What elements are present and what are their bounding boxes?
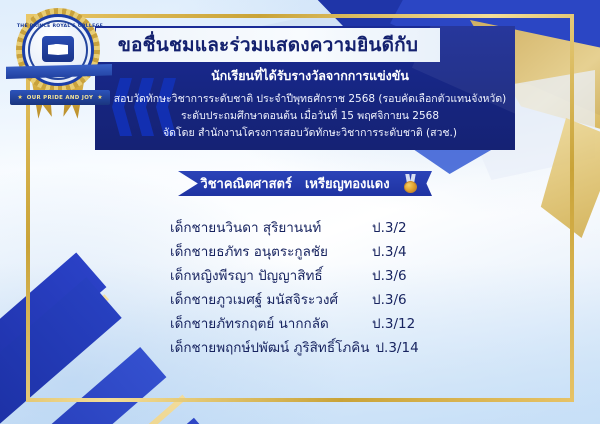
- student-class: ป.3/12: [372, 312, 415, 334]
- award-banner-content: วิชาคณิตศาสตร์ เหรียญทองแดง: [186, 173, 417, 194]
- student-row: เด็กหญิงพีรญา ปัญญาสิทธิ์ ป.3/6: [170, 264, 500, 288]
- congratulations-poster: ขอชื่นชมและร่วมแสดงความยินดีกับ นักเรียน…: [0, 0, 600, 424]
- student-class: ป.3/6: [372, 288, 407, 310]
- student-class: ป.3/4: [372, 240, 407, 262]
- student-name: เด็กชายพฤกษ์ปพัฒน์ ภูริสิทธิ์โภคิน: [170, 336, 375, 358]
- star-icon-right: ★: [97, 95, 102, 101]
- student-name: เด็กชายนวินดา สุริยานนท์: [170, 216, 372, 238]
- award-medal-label: เหรียญทองแดง: [305, 173, 390, 194]
- subtitle-line-1: นักเรียนที่ได้รับรางวัลจากการแข่งขัน: [95, 66, 525, 86]
- student-class: ป.3/6: [372, 264, 407, 286]
- award-banner: วิชาคณิตศาสตร์ เหรียญทองแดง: [178, 171, 426, 196]
- seal-motto-banner: ★ OUR PRIDE AND JOY ★: [10, 90, 110, 105]
- student-row: เด็กชายธภัทร อนุตระกูลชัย ป.3/4: [170, 240, 500, 264]
- student-name: เด็กชายภูวเมศฐ์ มนัสจิระวงศ์: [170, 288, 372, 310]
- student-row: เด็กชายนวินดา สุริยานนท์ ป.3/2: [170, 216, 500, 240]
- bronze-medal-icon: [403, 174, 418, 193]
- student-list: เด็กชายนวินดา สุริยานนท์ ป.3/2 เด็กชายธภ…: [170, 216, 500, 360]
- student-name: เด็กชายภัทรกฤตย์ นากกลัด: [170, 312, 372, 334]
- title-strip: ขอชื่นชมและร่วมแสดงความยินดีกับ: [96, 28, 440, 62]
- subtitle-line-4: จัดโดย สำนักงานโครงการสอบวัดทักษะวิชาการ…: [95, 125, 525, 142]
- subtitle-block: นักเรียนที่ได้รับรางวัลจากการแข่งขัน สอบ…: [95, 66, 525, 142]
- student-class: ป.3/2: [372, 216, 407, 238]
- student-name: เด็กชายธภัทร อนุตระกูลชัย: [170, 240, 372, 262]
- page-title: ขอชื่นชมและร่วมแสดงความยินดีกับ: [118, 30, 418, 60]
- student-row: เด็กชายภัทรกฤตย์ นากกลัด ป.3/12: [170, 312, 500, 336]
- school-seal-logo: THE PRINCE ROYAL'S COLLEGE CHIANG MAI ★ …: [8, 4, 112, 122]
- seal-book-crest-icon: [42, 36, 74, 62]
- seal-motto-text: OUR PRIDE AND JOY: [27, 95, 93, 101]
- subtitle-line-3: ระดับประถมศึกษาตอนต้น เมื่อวันที่ 15 พฤศ…: [95, 108, 525, 125]
- medal-disc: [404, 181, 417, 193]
- student-row: เด็กชายภูวเมศฐ์ มนัสจิระวงศ์ ป.3/6: [170, 288, 500, 312]
- seal-text-top: THE PRINCE ROYAL'S COLLEGE: [8, 24, 112, 29]
- award-subject-label: วิชาคณิตศาสตร์: [200, 173, 292, 194]
- student-class: ป.3/14: [375, 336, 418, 358]
- student-name: เด็กหญิงพีรญา ปัญญาสิทธิ์: [170, 264, 372, 286]
- subtitle-line-2: สอบวัดทักษะวิชาการระดับชาติ ประจำปีพุทธศ…: [95, 91, 525, 108]
- star-icon-left: ★: [17, 95, 22, 101]
- student-row: เด็กชายพฤกษ์ปพัฒน์ ภูริสิทธิ์โภคิน ป.3/1…: [170, 336, 500, 360]
